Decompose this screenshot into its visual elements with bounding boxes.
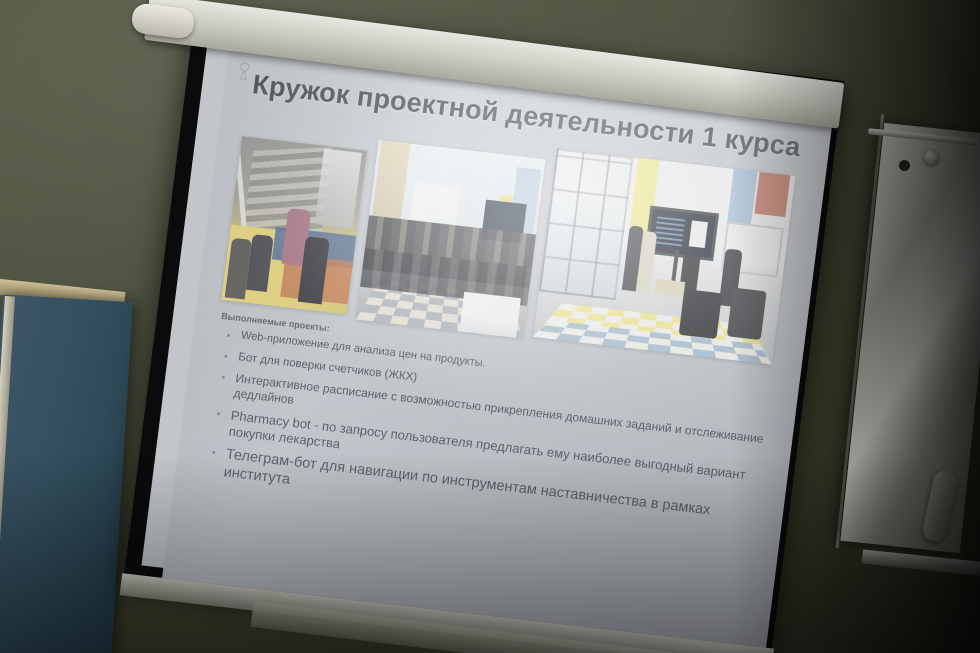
university-logo-icon [235, 59, 253, 81]
photo-students-on-steps [221, 136, 367, 314]
wall-shadow-bottom [0, 453, 980, 653]
photo-lecture-hall [356, 140, 546, 339]
classroom-photo: Кружок проектной деятельности 1 курса [0, 0, 980, 653]
